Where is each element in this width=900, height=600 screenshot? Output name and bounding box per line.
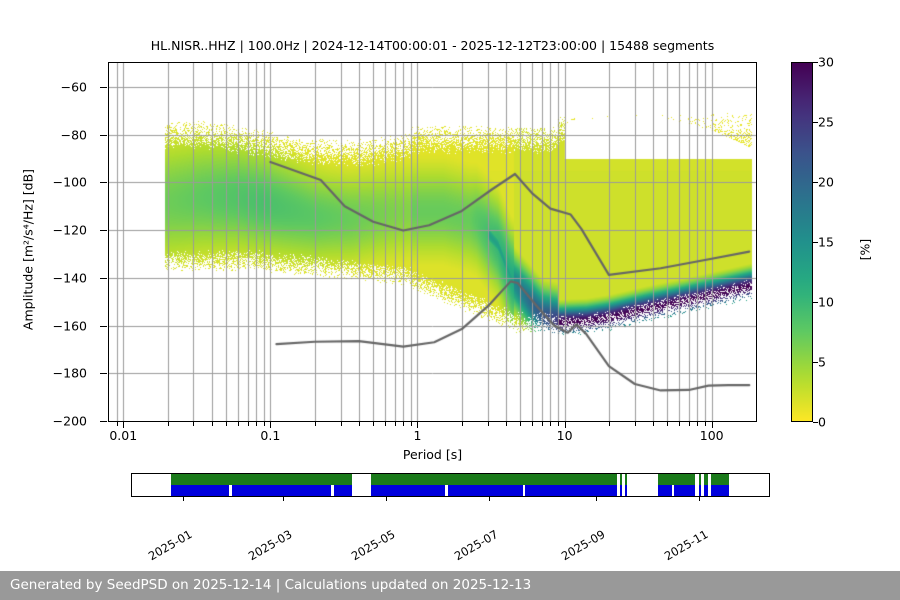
y-tick-mark	[100, 326, 107, 327]
timeline-data-segment	[620, 474, 623, 485]
y-tick-mark	[100, 421, 107, 422]
x-tick-label: 10	[557, 428, 573, 443]
x-minor-tick-mark	[193, 422, 194, 426]
timeline-data-segment	[625, 474, 628, 485]
timeline-data-segment	[704, 474, 708, 485]
y-tick-label: −100	[53, 175, 87, 190]
colorbar-tick-mark	[813, 422, 818, 423]
colorbar-tick-mark	[813, 62, 818, 63]
x-minor-tick-mark	[542, 422, 543, 426]
timeline-psd-segment	[699, 485, 701, 496]
timeline-tick-label: 2025-07	[452, 527, 501, 563]
y-tick-label: −60	[61, 79, 87, 94]
timeline-psd-segment	[674, 485, 695, 496]
timeline-psd-segment	[620, 485, 623, 496]
timeline-psd-segment	[232, 485, 331, 496]
x-minor-tick-mark	[653, 422, 654, 426]
colorbar-tick-mark	[813, 122, 818, 123]
plot-title: HL.NISR..HHZ | 100.0Hz | 2024-12-14T00:0…	[108, 38, 757, 53]
timeline-tick-mark	[183, 497, 184, 501]
x-minor-tick-mark	[395, 422, 396, 426]
colorbar	[791, 62, 813, 422]
x-minor-tick-mark	[488, 422, 489, 426]
x-tick-mark	[123, 422, 124, 428]
timeline-tick-mark	[386, 497, 387, 501]
y-tick-mark	[100, 87, 107, 88]
footer-text: Generated by SeedPSD on 2025-12-14 | Cal…	[10, 577, 531, 593]
x-minor-tick-mark	[411, 422, 412, 426]
y-tick-mark	[100, 373, 107, 374]
x-minor-tick-mark	[689, 422, 690, 426]
x-minor-tick-mark	[532, 422, 533, 426]
psd-figure: HL.NISR..HHZ | 100.0Hz | 2024-12-14T00:0…	[0, 0, 900, 600]
colorbar-tick-mark	[813, 242, 818, 243]
timeline-psd-segment	[658, 485, 671, 496]
y-tick-label: −160	[53, 318, 87, 333]
colorbar-tick-label: 15	[818, 235, 834, 250]
x-minor-tick-mark	[238, 422, 239, 426]
footer-bar: Generated by SeedPSD on 2025-12-14 | Cal…	[0, 571, 900, 600]
timeline-tick-mark	[283, 497, 284, 501]
timeline-tick-mark	[596, 497, 597, 501]
x-minor-tick-mark	[462, 422, 463, 426]
y-tick-mark	[100, 230, 107, 231]
timeline-tick-label: 2025-09	[559, 527, 608, 563]
x-minor-tick-mark	[385, 422, 386, 426]
colorbar-tick-label: 30	[818, 55, 834, 70]
x-tick-mark	[417, 422, 418, 428]
x-minor-tick-mark	[256, 422, 257, 426]
x-minor-tick-mark	[520, 422, 521, 426]
timeline-psd-segment	[711, 485, 730, 496]
y-tick-mark	[100, 278, 107, 279]
timeline-tick-mark	[699, 497, 700, 501]
timeline-tick-label: 2025-05	[349, 527, 398, 563]
x-tick-mark	[565, 422, 566, 428]
x-minor-tick-mark	[359, 422, 360, 426]
noise-model-curves	[109, 63, 756, 421]
x-minor-tick-mark	[117, 422, 118, 426]
x-minor-tick-mark	[506, 422, 507, 426]
x-tick-label: 100	[700, 428, 724, 443]
timeline-psd-segment	[448, 485, 523, 496]
timeline-psd-segment	[371, 485, 445, 496]
x-tick-label: 1	[414, 428, 422, 443]
colorbar-label: [%]	[858, 190, 873, 310]
y-tick-label: −180	[53, 366, 87, 381]
x-minor-tick-mark	[667, 422, 668, 426]
timeline-psd-segment	[704, 485, 708, 496]
x-tick-mark	[712, 422, 713, 428]
y-tick-label: −200	[53, 414, 87, 429]
colorbar-tick-label: 5	[818, 355, 826, 370]
timeline-tick-label: 2025-03	[245, 527, 294, 563]
colorbar-tick-label: 20	[818, 175, 834, 190]
x-minor-tick-mark	[341, 422, 342, 426]
x-minor-tick-mark	[635, 422, 636, 426]
x-minor-tick-mark	[609, 422, 610, 426]
x-minor-tick-mark	[248, 422, 249, 426]
x-minor-tick-mark	[373, 422, 374, 426]
timeline-data-segment	[699, 474, 701, 485]
x-minor-tick-mark	[212, 422, 213, 426]
y-tick-mark	[100, 135, 107, 136]
timeline-psd-segment	[625, 485, 628, 496]
x-minor-tick-mark	[558, 422, 559, 426]
y-axis-ticks: −60−80−100−120−140−160−180−200	[0, 0, 99, 600]
x-minor-tick-mark	[168, 422, 169, 426]
x-minor-tick-mark	[315, 422, 316, 426]
x-minor-tick-mark	[697, 422, 698, 426]
x-minor-tick-mark	[226, 422, 227, 426]
timeline-tick-label: 2025-11	[662, 527, 711, 563]
timeline-data-segment	[658, 474, 695, 485]
x-minor-tick-mark	[550, 422, 551, 426]
colorbar-tick-label: 0	[818, 415, 826, 430]
x-minor-tick-mark	[705, 422, 706, 426]
timeline-psd-segment	[171, 485, 230, 496]
y-tick-label: −140	[53, 270, 87, 285]
colorbar-tick-mark	[813, 362, 818, 363]
colorbar-gradient	[792, 63, 812, 421]
timeline-psd-segment	[334, 485, 352, 496]
colorbar-tick-label: 25	[818, 115, 834, 130]
x-tick-label: 0.1	[260, 428, 280, 443]
timeline-tick-mark	[489, 497, 490, 501]
y-tick-label: −80	[61, 127, 87, 142]
colorbar-tick-mark	[813, 182, 818, 183]
timeline-data-segment	[371, 474, 617, 485]
timeline-tick-label: 2025-01	[145, 527, 194, 563]
x-minor-tick-mark	[403, 422, 404, 426]
timeline-data-segment	[711, 474, 730, 485]
x-minor-tick-mark	[679, 422, 680, 426]
x-axis-label: Period [s]	[108, 447, 757, 462]
x-minor-tick-mark	[264, 422, 265, 426]
psd-plot-area[interactable]	[108, 62, 757, 422]
y-tick-mark	[100, 182, 107, 183]
colorbar-tick-label: 10	[818, 295, 834, 310]
timeline-data-segment	[171, 474, 353, 485]
y-tick-label: −120	[53, 223, 87, 238]
x-tick-label: 0.01	[109, 428, 137, 443]
colorbar-tick-mark	[813, 302, 818, 303]
data-coverage-timeline[interactable]	[131, 473, 770, 497]
timeline-psd-segment	[525, 485, 617, 496]
x-tick-mark	[270, 422, 271, 428]
